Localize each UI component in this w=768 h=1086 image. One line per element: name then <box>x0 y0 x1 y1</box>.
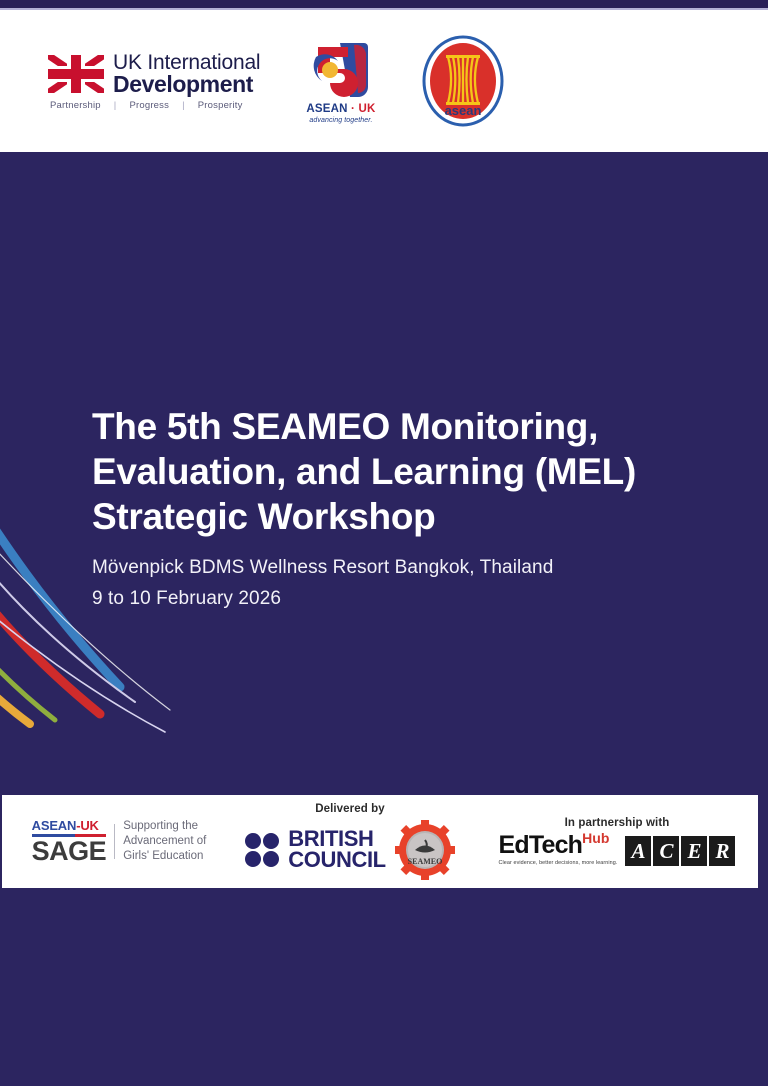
ukid-tagline-sep-1: | <box>114 100 117 111</box>
delivered-by-group: Delivered by BRITISH COUNCIL <box>245 803 454 880</box>
asean-uk-wordmark-uk: UK <box>358 103 375 115</box>
delivered-by-label: Delivered by <box>315 803 385 815</box>
sage-wordmark: SAGE <box>32 839 107 865</box>
uk-international-development-logo: UK International Development Partnership… <box>48 52 260 111</box>
delivered-by-logos: BRITISH COUNCIL <box>245 820 454 880</box>
ukid-tagline-prosperity: Prosperity <box>198 100 243 111</box>
poster-page: UK International Development Partnership… <box>0 0 768 1086</box>
asean-uk-50-logo: ASEAN · UK advancing together. <box>306 39 375 124</box>
asean-uk-wordmark-asean: ASEAN <box>306 103 347 115</box>
british-council-wordmark: BRITISH COUNCIL <box>288 829 385 871</box>
partnership-label: In partnership with <box>565 817 670 829</box>
hero-text-block: The 5th SEAMEO Monitoring, Evaluation, a… <box>92 404 744 610</box>
asean-uk-wordmark: ASEAN · UK <box>306 103 375 115</box>
page-title: The 5th SEAMEO Monitoring, Evaluation, a… <box>92 404 744 539</box>
edtech-hub-wordmark: EdTech Hub <box>499 833 610 858</box>
footer-col-sage: ASEAN-UK SAGE Supporting the Advancement… <box>2 795 224 888</box>
svg-text:SEAMEO: SEAMEO <box>407 857 442 866</box>
sage-divider <box>114 824 115 859</box>
asean-uk-wordmark-sep: · <box>348 103 359 115</box>
partnership-logos: EdTech Hub Clear evidence, better decisi… <box>499 833 736 866</box>
asean-uk-50-mark-icon <box>310 39 372 101</box>
ukid-tagline-sep-2: | <box>182 100 185 111</box>
footer-logo-band: ASEAN-UK SAGE Supporting the Advancement… <box>2 795 758 888</box>
partnership-group: In partnership with EdTech Hub Clear evi… <box>499 817 736 866</box>
sage-tagline-line-1: Supporting the <box>123 819 206 834</box>
sage-top-wordmark: ASEAN-UK <box>32 818 107 833</box>
asean-uk-tagline: advancing together. <box>309 117 372 124</box>
ukid-tagline: Partnership | Progress | Prosperity <box>48 100 260 111</box>
sage-lockup: ASEAN-UK SAGE <box>32 818 107 865</box>
asean-emblem-icon: asean <box>422 35 504 127</box>
sage-uk-text: -UK <box>76 818 99 833</box>
ukid-line-1: UK International <box>113 52 260 73</box>
ukid-line-2: Development <box>113 73 260 96</box>
sage-tagline-line-2: Advancement of <box>123 834 206 849</box>
edtech-hub-superscript: Hub <box>582 831 609 845</box>
sage-asean-text: ASEAN <box>32 818 77 833</box>
sage-tagline: Supporting the Advancement of Girls' Edu… <box>123 819 206 863</box>
footer-col-partnership: In partnership with EdTech Hub Clear evi… <box>476 795 758 888</box>
hero-dates: 9 to 10 February 2026 <box>92 588 744 610</box>
acer-logo: A C E R <box>625 836 735 866</box>
header-logo-group: UK International Development Partnership… <box>48 35 504 127</box>
british-council-line-2: COUNCIL <box>288 850 385 871</box>
hero-section: The 5th SEAMEO Monitoring, Evaluation, a… <box>0 152 768 1086</box>
top-rule <box>0 0 768 8</box>
ukid-tagline-progress: Progress <box>129 100 169 111</box>
hero-venue: Mövenpick BDMS Wellness Resort Bangkok, … <box>92 557 744 579</box>
sage-tagline-line-3: Girls' Education <box>123 849 206 864</box>
edtech-hub-logo: EdTech Hub Clear evidence, better decisi… <box>499 833 618 866</box>
acer-letter-a: A <box>625 836 651 866</box>
union-jack-flag-icon <box>48 55 104 93</box>
seameo-logo-icon: SEAMEO <box>395 820 455 880</box>
ukid-lockup: UK International Development <box>48 52 260 96</box>
acer-letter-e: E <box>681 836 707 866</box>
british-council-dots-icon <box>245 833 279 867</box>
header-logo-band: UK International Development Partnership… <box>0 10 768 152</box>
svg-text:asean: asean <box>444 103 481 118</box>
footer-col-delivered-by: Delivered by BRITISH COUNCIL <box>224 795 476 888</box>
edtech-word: EdTech <box>499 833 583 858</box>
ukid-wordmark: UK International Development <box>113 52 260 96</box>
acer-letter-r: R <box>709 836 735 866</box>
ukid-tagline-partnership: Partnership <box>50 100 101 111</box>
acer-letter-c: C <box>653 836 679 866</box>
edtech-hub-tagline: Clear evidence, better decisions, more l… <box>499 860 618 866</box>
asean-uk-sage-logo: ASEAN-UK SAGE Supporting the Advancement… <box>32 818 207 865</box>
